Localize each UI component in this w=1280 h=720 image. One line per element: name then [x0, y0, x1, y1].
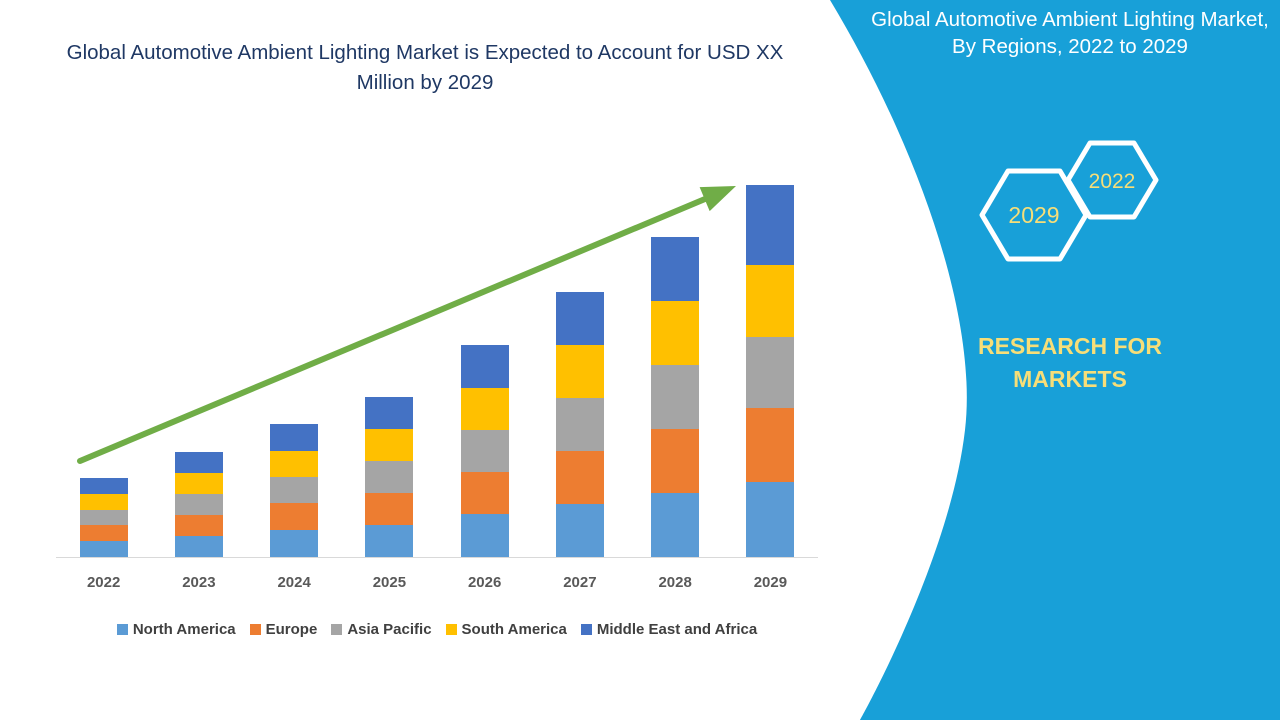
- bar-segment[interactable]: [556, 504, 604, 557]
- bar-segment[interactable]: [651, 301, 699, 365]
- bar-segment[interactable]: [556, 398, 604, 451]
- bar-segment[interactable]: [651, 237, 699, 301]
- bar-segment[interactable]: [365, 429, 413, 461]
- x-tick-label-2027: 2027: [532, 574, 628, 591]
- legend-item[interactable]: South America: [446, 621, 567, 638]
- legend-label: North America: [133, 621, 236, 638]
- bar-segment[interactable]: [365, 493, 413, 525]
- bar-segment[interactable]: [461, 472, 509, 514]
- bar-segment[interactable]: [461, 388, 509, 430]
- bar-column-2023[interactable]: [175, 452, 223, 557]
- bar-segment[interactable]: [80, 510, 128, 525]
- bar-segment[interactable]: [556, 451, 604, 504]
- bar-column-2024[interactable]: [270, 424, 318, 557]
- bar-segment[interactable]: [746, 482, 794, 557]
- bar-segment[interactable]: [175, 536, 223, 557]
- bar-segment[interactable]: [556, 292, 604, 345]
- bar-column-2028[interactable]: [651, 237, 699, 557]
- bar-segment[interactable]: [270, 530, 318, 557]
- bar-segment[interactable]: [175, 515, 223, 536]
- bar-segment[interactable]: [746, 185, 794, 265]
- bar-segment[interactable]: [175, 494, 223, 515]
- x-tick-label-2025: 2025: [341, 574, 437, 591]
- bar-segment[interactable]: [175, 473, 223, 494]
- bar-segment[interactable]: [746, 408, 794, 482]
- legend-swatch-icon: [331, 624, 342, 635]
- bar-column-2029[interactable]: [746, 185, 794, 557]
- legend-swatch-icon: [250, 624, 261, 635]
- legend-item[interactable]: Asia Pacific: [331, 621, 431, 638]
- bar-segment[interactable]: [461, 430, 509, 472]
- bar-segment[interactable]: [80, 541, 128, 557]
- legend-item[interactable]: North America: [117, 621, 236, 638]
- x-axis-line: [56, 557, 818, 558]
- x-tick-label-2024: 2024: [246, 574, 342, 591]
- bar-segment[interactable]: [175, 452, 223, 473]
- chart-plot-area: [0, 0, 840, 720]
- bar-segment[interactable]: [270, 477, 318, 503]
- legend-swatch-icon: [581, 624, 592, 635]
- legend-label: Asia Pacific: [347, 621, 431, 638]
- bar-segment[interactable]: [365, 397, 413, 429]
- bar-segment[interactable]: [651, 429, 699, 493]
- x-tick-label-2028: 2028: [627, 574, 723, 591]
- legend-label: South America: [462, 621, 567, 638]
- bar-segment[interactable]: [461, 345, 509, 388]
- infographic-root: Global Automotive Ambient Lighting Marke…: [0, 0, 1280, 720]
- bar-segment[interactable]: [365, 461, 413, 493]
- bar-segment[interactable]: [746, 265, 794, 337]
- blue-panel-shape: [800, 0, 1280, 720]
- x-tick-label-2022: 2022: [56, 574, 152, 591]
- legend-item[interactable]: Middle East and Africa: [581, 621, 757, 638]
- chart-legend: North AmericaEuropeAsia PacificSouth Ame…: [56, 617, 818, 641]
- x-axis-tick-labels: 20222023202420252026202720282029: [56, 574, 818, 600]
- legend-label: Europe: [266, 621, 318, 638]
- bar-segment[interactable]: [556, 345, 604, 398]
- bar-segment[interactable]: [651, 493, 699, 557]
- legend-swatch-icon: [446, 624, 457, 635]
- bar-segment[interactable]: [270, 451, 318, 477]
- bar-column-2027[interactable]: [556, 292, 604, 557]
- x-tick-label-2026: 2026: [437, 574, 533, 591]
- bar-segment[interactable]: [80, 525, 128, 541]
- bar-segment[interactable]: [80, 494, 128, 510]
- bar-segment[interactable]: [461, 514, 509, 557]
- x-tick-label-2023: 2023: [151, 574, 247, 591]
- bar-segment[interactable]: [746, 337, 794, 408]
- bar-segment[interactable]: [651, 365, 699, 429]
- legend-item[interactable]: Europe: [250, 621, 318, 638]
- bar-column-2026[interactable]: [461, 345, 509, 557]
- bar-segment[interactable]: [270, 424, 318, 451]
- bar-column-2022[interactable]: [80, 478, 128, 557]
- bar-segment[interactable]: [270, 503, 318, 530]
- bar-column-2025[interactable]: [365, 397, 413, 557]
- bar-segment[interactable]: [80, 478, 128, 494]
- bar-segment[interactable]: [365, 525, 413, 557]
- legend-label: Middle East and Africa: [597, 621, 757, 638]
- legend-swatch-icon: [117, 624, 128, 635]
- stacked-bar-group: [56, 150, 818, 557]
